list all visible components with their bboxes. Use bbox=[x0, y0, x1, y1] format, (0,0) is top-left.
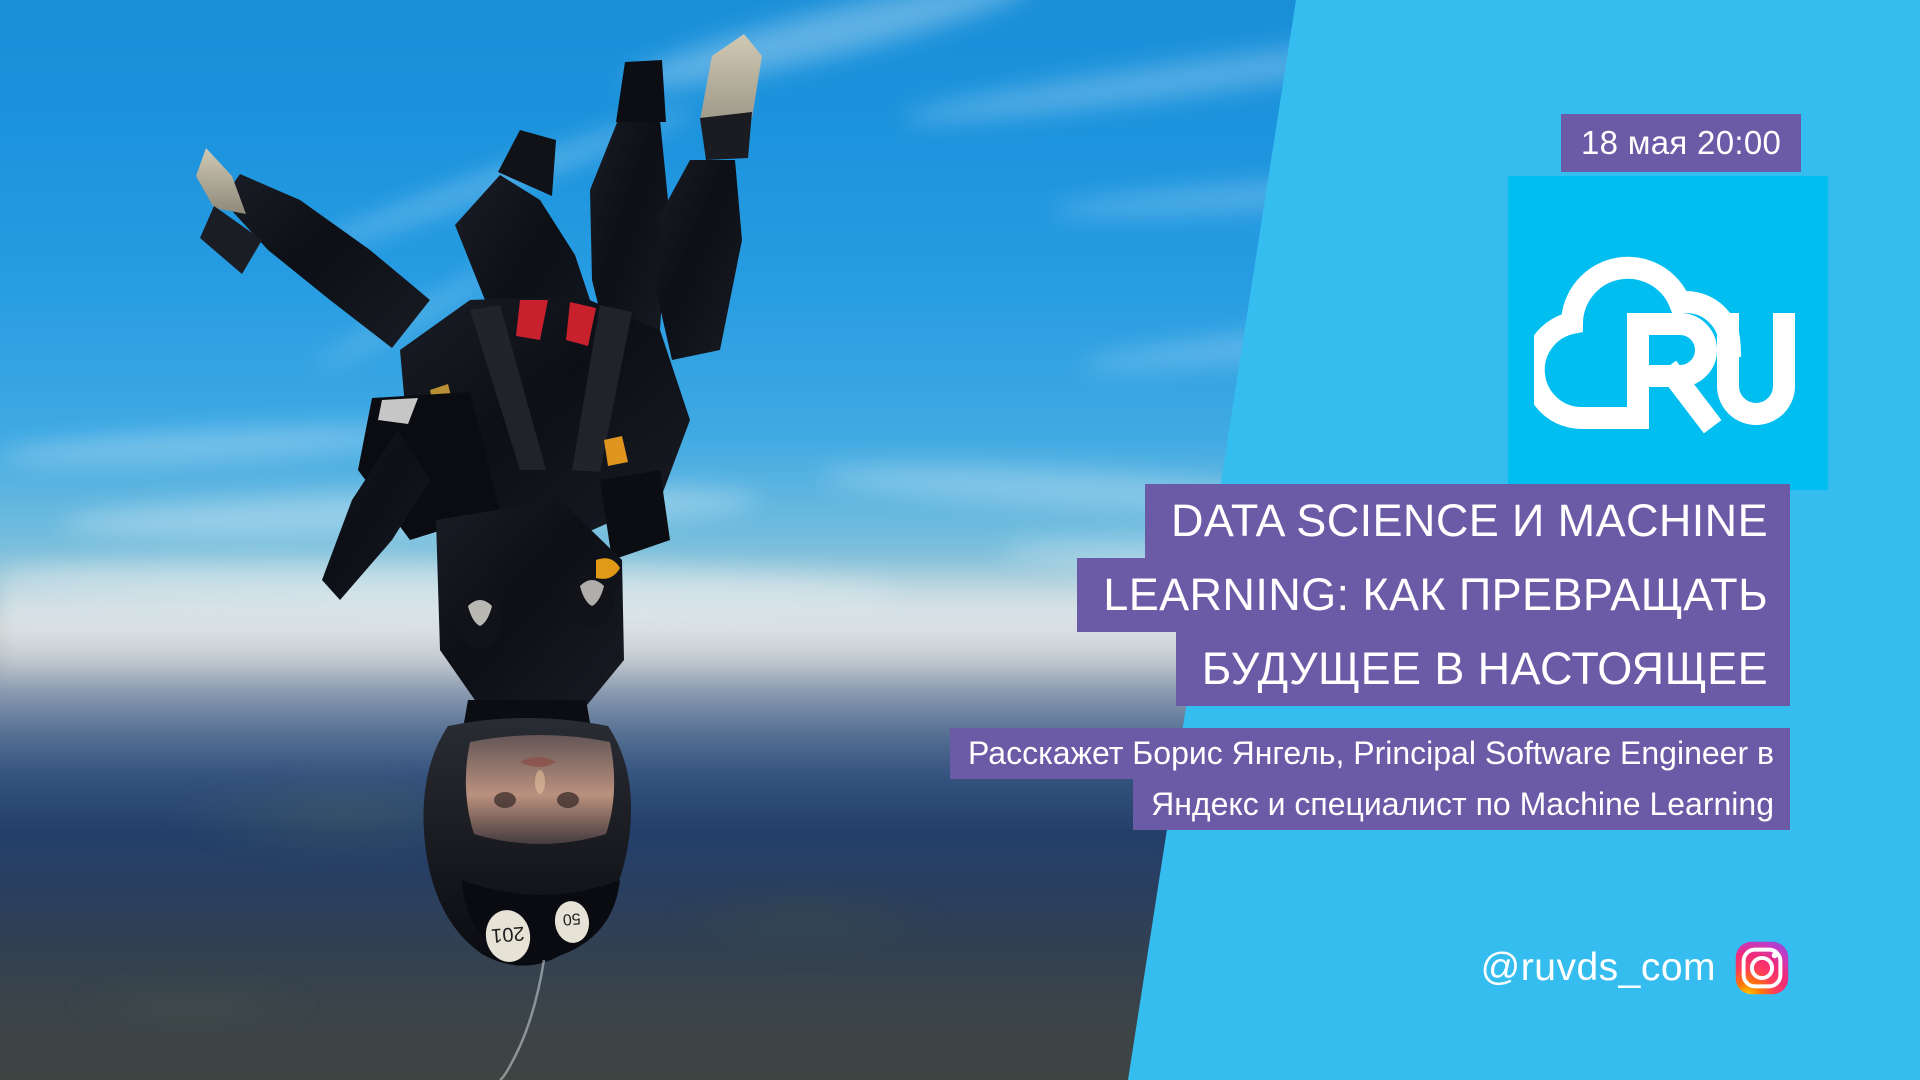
promo-poster: 201 50 18 мая 20:00 DATA SCIENCE И MACHI… bbox=[0, 0, 1920, 1080]
instagram-handle[interactable]: @ruvds_com bbox=[1481, 946, 1716, 990]
instagram-icon[interactable] bbox=[1734, 940, 1790, 996]
social-footer[interactable]: @ruvds_com bbox=[1100, 940, 1790, 996]
subtitle-line: Яндекс и специалист по Machine Learning bbox=[0, 779, 1790, 830]
date-badge: 18 мая 20:00 bbox=[1561, 114, 1801, 172]
title-line: БУДУЩЕЕ В НАСТОЯЩЕЕ bbox=[0, 632, 1790, 706]
title-line-text: LEARNING: КАК ПРЕВРАЩАТЬ bbox=[1077, 558, 1790, 632]
subtitle-line-text: Расскажет Борис Янгель, Principal Softwa… bbox=[950, 728, 1790, 779]
title-line: DATA SCIENCE И MACHINE bbox=[0, 484, 1790, 558]
subtitle: Расскажет Борис Янгель, Principal Softwa… bbox=[0, 728, 1790, 830]
title-line: LEARNING: КАК ПРЕВРАЩАТЬ bbox=[0, 558, 1790, 632]
page-title: DATA SCIENCE И MACHINE LEARNING: КАК ПРЕ… bbox=[0, 484, 1790, 706]
title-line-text: DATA SCIENCE И MACHINE bbox=[1145, 484, 1790, 558]
title-line-text: БУДУЩЕЕ В НАСТОЯЩЕЕ bbox=[1176, 632, 1790, 706]
date-badge-text: 18 мая 20:00 bbox=[1581, 124, 1781, 162]
ruvds-logo-box bbox=[1508, 176, 1828, 490]
cloud-ru-logo-icon bbox=[1534, 220, 1802, 446]
svg-text:50: 50 bbox=[562, 909, 581, 927]
subtitle-line: Расскажет Борис Янгель, Principal Softwa… bbox=[0, 728, 1790, 779]
svg-text:201: 201 bbox=[490, 922, 525, 947]
subtitle-line-text: Яндекс и специалист по Machine Learning bbox=[1133, 779, 1790, 830]
